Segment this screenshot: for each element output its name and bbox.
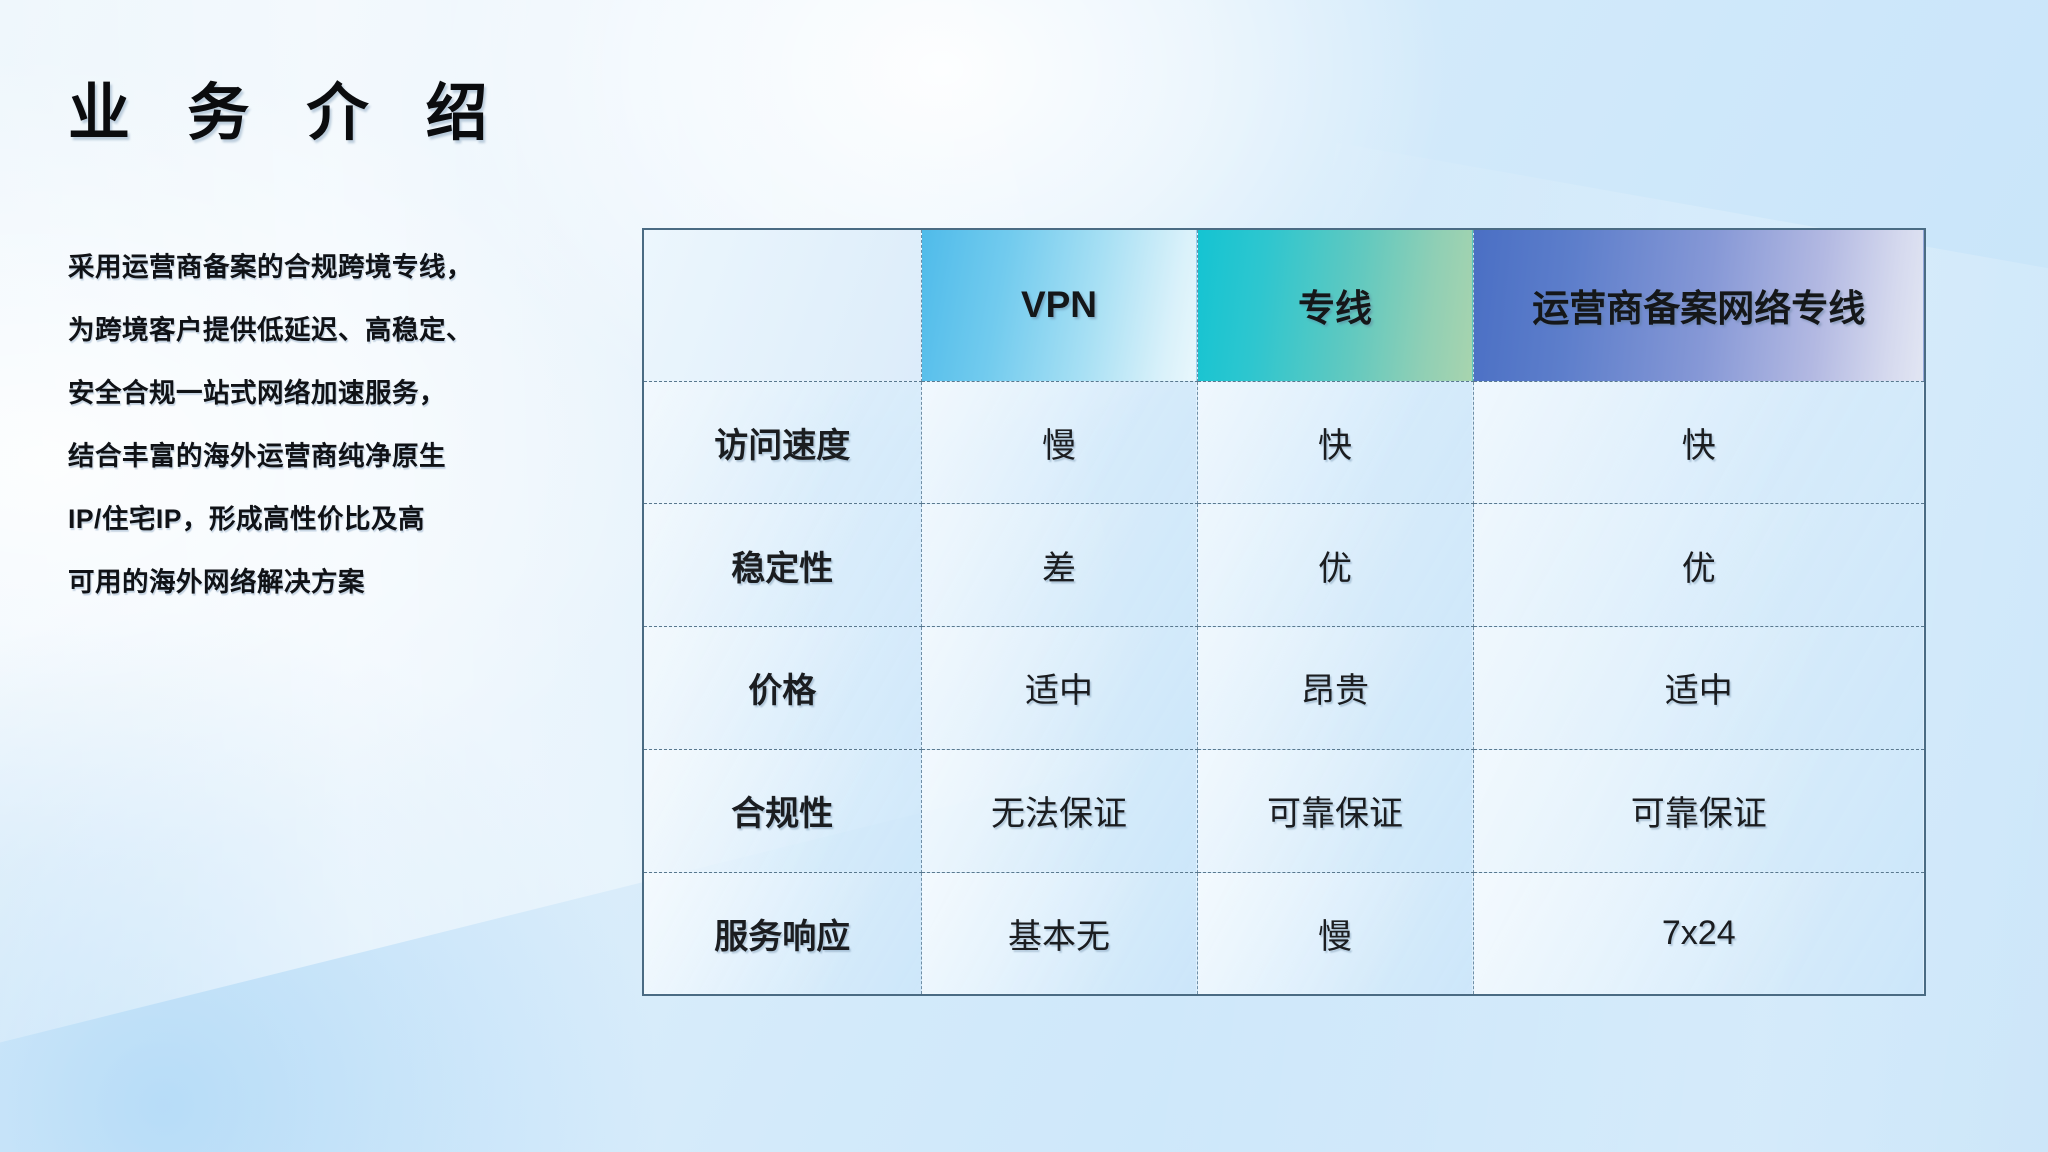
table-row: 服务响应 基本无 慢 7x24 [643, 872, 1925, 995]
cell-filed-line: 快 [1473, 381, 1925, 504]
table-header-row: VPN 专线 运营商备案网络专线 [643, 229, 1925, 381]
table-row: 访问速度 慢 快 快 [643, 381, 1925, 504]
intro-line: 可用的海外网络解决方案 [68, 551, 608, 614]
table-row: 稳定性 差 优 优 [643, 504, 1925, 627]
cell-vpn: 适中 [921, 627, 1197, 750]
slide-canvas: 业 务 介 绍 采用运营商备案的合规跨境专线， 为跨境客户提供低延迟、高稳定、 … [0, 0, 2048, 1152]
intro-line: 安全合规一站式网络加速服务， [68, 362, 608, 425]
table-body: 访问速度 慢 快 快 稳定性 差 优 优 价格 适中 昂贵 适中 [643, 381, 1925, 995]
cell-dedicated-line: 昂贵 [1197, 627, 1473, 750]
row-label-service-response: 服务响应 [643, 872, 921, 995]
cell-vpn: 基本无 [921, 872, 1197, 995]
cell-dedicated-line: 慢 [1197, 872, 1473, 995]
table-row: 合规性 无法保证 可靠保证 可靠保证 [643, 749, 1925, 872]
cell-dedicated-line: 优 [1197, 504, 1473, 627]
row-label-stability: 稳定性 [643, 504, 921, 627]
cell-vpn: 无法保证 [921, 749, 1197, 872]
cell-filed-line: 优 [1473, 504, 1925, 627]
row-label-price: 价格 [643, 627, 921, 750]
comparison-table-container: VPN 专线 运营商备案网络专线 访问速度 慢 快 快 稳定性 差 优 优 [642, 228, 1924, 994]
intro-line: 为跨境客户提供低延迟、高稳定、 [68, 299, 608, 362]
cell-dedicated-line: 可靠保证 [1197, 749, 1473, 872]
column-header-dedicated-line: 专线 [1197, 229, 1473, 381]
column-header-filed-line: 运营商备案网络专线 [1473, 229, 1925, 381]
cell-filed-line: 可靠保证 [1473, 749, 1925, 872]
column-header-metric [643, 229, 921, 381]
cell-vpn: 差 [921, 504, 1197, 627]
cell-filed-line: 适中 [1473, 627, 1925, 750]
column-header-vpn: VPN [921, 229, 1197, 381]
comparison-table: VPN 专线 运营商备案网络专线 访问速度 慢 快 快 稳定性 差 优 优 [642, 228, 1926, 996]
table-row: 价格 适中 昂贵 适中 [643, 627, 1925, 750]
cell-dedicated-line: 快 [1197, 381, 1473, 504]
intro-line: 结合丰富的海外运营商纯净原生 [68, 425, 608, 488]
intro-paragraph: 采用运营商备案的合规跨境专线， 为跨境客户提供低延迟、高稳定、 安全合规一站式网… [68, 236, 608, 614]
intro-line: 采用运营商备案的合规跨境专线， [68, 236, 608, 299]
row-label-compliance: 合规性 [643, 749, 921, 872]
page-title: 业 务 介 绍 [68, 62, 508, 152]
table-header: VPN 专线 运营商备案网络专线 [643, 229, 1925, 381]
row-label-access-speed: 访问速度 [643, 381, 921, 504]
cell-vpn: 慢 [921, 381, 1197, 504]
intro-line: IP/住宅IP，形成高性价比及高 [68, 488, 608, 551]
cell-filed-line: 7x24 [1473, 872, 1925, 995]
